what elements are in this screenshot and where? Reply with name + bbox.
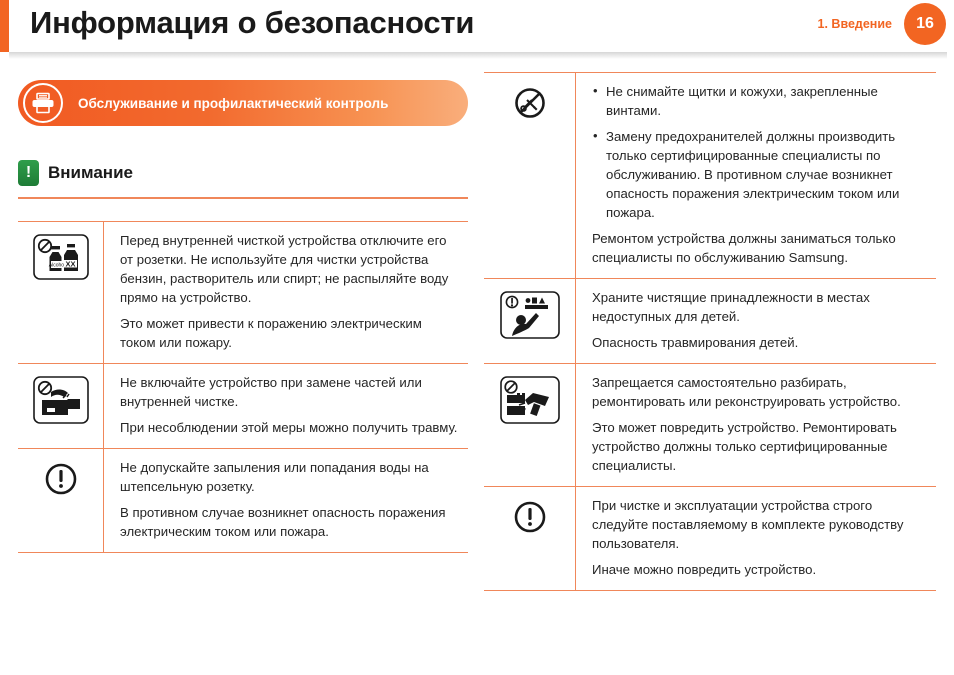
table-row: Alcohol XX Перед внутренней чисткой устр… (18, 221, 468, 364)
row-paragraph: При чистке и эксплуатации устройства стр… (592, 496, 928, 553)
exclamation-circle-icon (44, 462, 78, 496)
page-title: Информация о безопасности (30, 5, 474, 41)
row-paragraph: Это может повредить устройство. Ремонтир… (592, 418, 928, 475)
row-paragraph: Не допускайте запыления или попадания во… (120, 458, 460, 496)
row-text-cell: Не включайте устройство при замене часте… (104, 364, 468, 448)
row-paragraph: Перед внутренней чисткой устройства откл… (120, 231, 460, 307)
page-header: Информация о безопасности 1. Введение 16 (0, 0, 954, 52)
table-row: Не допускайте запыления или попадания во… (18, 449, 468, 553)
row-text-cell: Не допускайте запыления или попадания во… (104, 449, 468, 552)
row-icon-cell (484, 279, 576, 363)
row-icon-cell (18, 449, 104, 552)
caution-divider (18, 197, 468, 199)
table-row: Запрещается самостоятельно разбирать, ре… (484, 364, 936, 487)
section-banner: Обслуживание и профилактический контроль (18, 80, 468, 126)
row-paragraph: Запрещается самостоятельно разбирать, ре… (592, 373, 928, 411)
printer-icon (23, 83, 63, 123)
row-text-cell: Храните чистящие принадлежности в местах… (576, 279, 936, 363)
safety-information-page: Информация о безопасности 1. Введение 16… (0, 0, 954, 675)
caution-label: Внимание (48, 163, 133, 183)
svg-text:Alcohol: Alcohol (48, 262, 64, 268)
exclamation-circle-icon (513, 500, 547, 534)
table-row: Не снимайте щитки и кожухи, закрепленные… (484, 72, 936, 279)
row-icon-cell (18, 364, 104, 448)
chapter-label: 1. Введение (818, 17, 892, 31)
row-icon-cell (484, 487, 576, 590)
svg-text:XX: XX (65, 259, 75, 268)
row-icon-cell (484, 364, 576, 486)
row-text-cell: При чистке и эксплуатации устройства стр… (576, 487, 936, 590)
row-icon-cell (484, 73, 576, 278)
row-paragraph: При несоблюдении этой меры можно получит… (120, 418, 460, 437)
row-paragraph: В противном случае возникнет опасность п… (120, 503, 460, 541)
row-text-cell: Запрещается самостоятельно разбирать, ре… (576, 364, 936, 486)
header-accent-bar (0, 0, 9, 52)
page-number-badge: 16 (904, 3, 946, 45)
row-icon-cell: Alcohol XX (18, 222, 104, 363)
row-paragraph: Не включайте устройство при замене часте… (120, 373, 460, 411)
no-hand-in-device-icon (32, 375, 90, 425)
green-exclamation-icon: ! (18, 160, 39, 186)
row-paragraph: Храните чистящие принадлежности в местах… (592, 288, 928, 326)
row-paragraph: Опасность травмирования детей. (592, 333, 928, 352)
right-safety-table: Не снимайте щитки и кожухи, закрепленные… (484, 72, 936, 591)
row-bullet-list: Не снимайте щитки и кожухи, закрепленные… (592, 82, 928, 222)
keep-away-from-children-icon (499, 290, 561, 340)
table-row: Храните чистящие принадлежности в местах… (484, 279, 936, 364)
table-row: Не включайте устройство при замене часте… (18, 364, 468, 449)
table-row: При чистке и эксплуатации устройства стр… (484, 487, 936, 591)
section-banner-title: Обслуживание и профилактический контроль (78, 95, 388, 112)
left-safety-table: Alcohol XX Перед внутренней чисткой устр… (18, 221, 468, 553)
row-text-cell: Не снимайте щитки и кожухи, закрепленные… (576, 73, 936, 278)
header-shadow (9, 52, 947, 59)
caution-heading: ! Внимание (18, 160, 468, 186)
row-paragraph: Ремонтом устройства должны заниматься то… (592, 229, 928, 267)
row-paragraph: Иначе можно повредить устройство. (592, 560, 928, 579)
row-bullet: Замену предохранителей должны производит… (592, 127, 928, 222)
no-solvent-bottles-icon: Alcohol XX (32, 233, 90, 281)
no-disassembly-drill-icon (499, 375, 561, 425)
right-column: Не снимайте щитки и кожухи, закрепленные… (484, 72, 936, 591)
row-text-cell: Перед внутренней чисткой устройства откл… (104, 222, 468, 363)
left-column: Обслуживание и профилактический контроль… (18, 80, 468, 553)
row-paragraph: Это может привести к поражению электриче… (120, 314, 460, 352)
row-bullet: Не снимайте щитки и кожухи, закрепленные… (592, 82, 928, 120)
no-tools-circle-icon (513, 86, 547, 120)
